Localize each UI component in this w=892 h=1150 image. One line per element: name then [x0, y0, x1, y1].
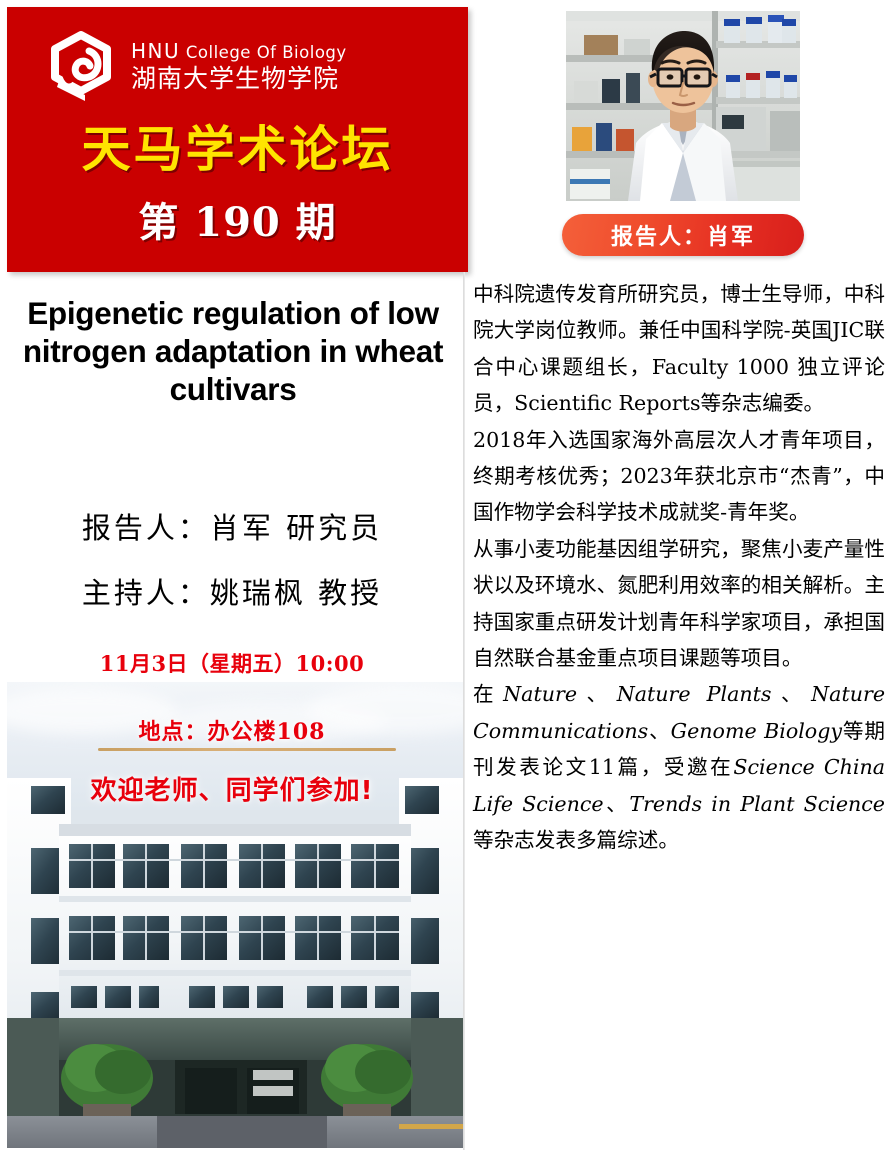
- logo-english-text: HNU College Of Biology: [131, 41, 347, 62]
- forum-issue-number: 第 190 期: [7, 203, 468, 243]
- welcome-message: 欢迎老师、同学们参加!: [0, 770, 464, 807]
- talk-date-line: 11月3日（星期五）10:00: [0, 648, 464, 678]
- bio-paragraph-4: 在Nature、Nature Plants、Nature Communicati…: [473, 676, 885, 858]
- gold-divider-rule: [98, 748, 396, 751]
- seminar-poster: HNU College Of Biology 湖南大学生物学院 天马学术论坛 第…: [0, 0, 892, 1150]
- institution-logo: HNU College Of Biology 湖南大学生物学院: [45, 29, 347, 105]
- forum-title: 天马学术论坛: [7, 125, 468, 174]
- talk-venue-line: 地点：办公楼108: [0, 714, 464, 746]
- left-column: HNU College Of Biology 湖南大学生物学院 天马学术论坛 第…: [0, 0, 464, 1150]
- logo-chinese-text: 湖南大学生物学院: [131, 65, 347, 93]
- header-block: HNU College Of Biology 湖南大学生物学院 天马学术论坛 第…: [7, 7, 468, 272]
- bio-paragraph-2: 2018年入选国家海外高层次人才青年项目，终期考核优秀；2023年获北京市“杰青…: [473, 422, 885, 531]
- logo-text: HNU College Of Biology 湖南大学生物学院: [131, 41, 347, 93]
- speaker-photo: [566, 11, 800, 201]
- speaker-badge-label: 报告人：肖军: [611, 219, 755, 251]
- speaker-badge: 报告人：肖军: [562, 214, 804, 256]
- talk-host-line: 主持人：姚瑞枫 教授: [0, 570, 464, 612]
- logo-college-name: College Of Biology: [186, 43, 347, 62]
- hnu-hexagon-logo-icon: [45, 29, 117, 105]
- speaker-biography: 中科院遗传发育所研究员，博士生导师，中科院大学岗位教师。兼任中国科学院-英国JI…: [473, 276, 885, 859]
- bio-paragraph-1: 中科院遗传发育所研究员，博士生导师，中科院大学岗位教师。兼任中国科学院-英国JI…: [473, 276, 885, 422]
- speaker-portrait-illustration: [566, 11, 800, 201]
- building-illustration: [7, 778, 463, 1148]
- bio-paragraph-3: 从事小麦功能基因组学研究，聚焦小麦产量性状以及环境水、氮肥利用效率的相关解析。主…: [473, 531, 885, 677]
- talk-speaker-line: 报告人：肖军 研究员: [0, 505, 464, 547]
- building-photo: [7, 682, 463, 1148]
- right-column: 报告人：肖军 中科院遗传发育所研究员，博士生导师，中科院大学岗位教师。兼任中国科…: [464, 0, 892, 1150]
- logo-hnu-abbr: HNU: [131, 39, 180, 63]
- talk-title: Epigenetic regulation of low nitrogen ad…: [18, 295, 448, 408]
